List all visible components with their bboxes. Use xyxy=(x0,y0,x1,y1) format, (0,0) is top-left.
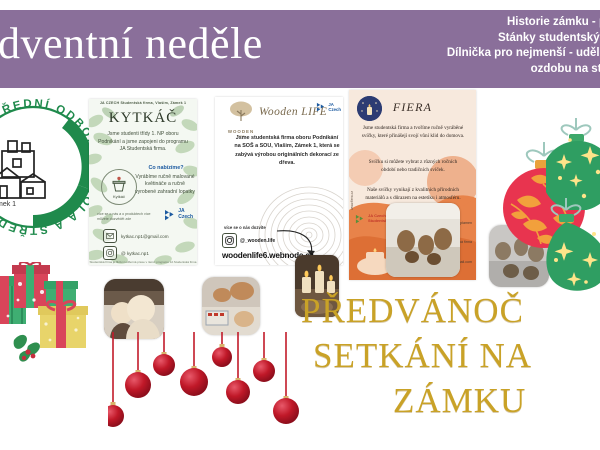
kytkac-badge-label: Kytkáč xyxy=(113,194,125,199)
card-kytkac-body: Jsme studenti třídy 1. NP oboru Podnikán… xyxy=(97,131,189,154)
fiera-side-text: www.fiera.cz xyxy=(350,191,354,210)
card-kytkac-header: JA CZECH Studentská firma, Vlašim, Zámek… xyxy=(89,101,197,105)
program-line-4: ozdobu na str xyxy=(276,62,600,78)
green-ornament-1-graphic xyxy=(546,118,600,210)
tree-icon xyxy=(224,101,258,123)
fiera-paragraph-3: Naše svíčky vynikají z kvalitních přírod… xyxy=(361,186,465,202)
kytkac-more-text: více se o nás a o produktech více můžete… xyxy=(97,212,159,223)
wooden-instagram: @_wooden.life xyxy=(240,238,275,244)
kytkac-email-row[interactable]: kytkac.np1@gmail.com xyxy=(103,229,169,243)
headline-line-3: ZÁMKU xyxy=(295,378,600,423)
wooden-more-text: více se o nás dozvíte xyxy=(224,225,266,230)
headline-line-2: SETKÁNÍ NA xyxy=(295,333,600,378)
email-icon xyxy=(103,229,117,243)
card-wooden-body: Jsme studentská firma oboru Podnikání na… xyxy=(233,134,341,168)
ja-czech-icon xyxy=(164,209,177,221)
photo-wood-decorations xyxy=(386,203,460,277)
gift-boxes-graphic xyxy=(0,262,114,382)
fiera-paragraph-2: Svíčku si můžete vybrat z různých ročníc… xyxy=(361,158,465,174)
ja-czech-icon xyxy=(355,214,366,224)
wooden-instagram-row[interactable]: @_wooden.life xyxy=(222,233,275,248)
ja-czech-icon xyxy=(316,102,327,112)
wooden-ja-line2: Czech xyxy=(328,107,341,112)
wooden-life-logo: WOODEN LIFE xyxy=(224,101,258,135)
card-wooden-life[interactable]: WOODEN LIFE Wooden LIFE JA Czech Jsme st… xyxy=(215,97,343,265)
page-title: adventní neděle xyxy=(0,18,263,69)
instagram-icon xyxy=(103,246,117,260)
kytkac-offer-body: Vyrábíme ručně malované květináče a ručn… xyxy=(135,174,195,196)
hanging-red-baubles-graphic xyxy=(108,332,308,450)
hanging-red-baubles xyxy=(108,332,308,450)
kytkac-logo-badge: Kytkáč xyxy=(101,169,137,205)
photo-craft-table xyxy=(202,277,260,335)
kytkac-ja-line2: Czech xyxy=(178,215,193,221)
kytkac-instagram: @ kytkac.np1 xyxy=(121,251,149,256)
fiera-paragraph-1: Jsme studentská firma a tvoříme ručně vy… xyxy=(361,124,465,140)
program-line-3: Dílnička pro nejmenší - uděle xyxy=(276,46,600,62)
green-christmas-ornament-2 xyxy=(540,198,600,294)
kytkac-ja-czech-logo: JA Czech xyxy=(164,209,193,221)
event-program-list: Historie zámku - p Stánky studentskýc Dí… xyxy=(276,15,600,77)
program-line-2: Stánky studentskýc xyxy=(276,31,600,47)
header-banner: adventní neděle Historie zámku - p Stánk… xyxy=(0,10,600,88)
card-kytkac[interactable]: JA CZECH Studentská firma, Vlašim, Zámek… xyxy=(89,99,197,265)
kytkac-email: kytkac.np1@gmail.com xyxy=(121,234,169,239)
instagram-icon xyxy=(222,233,237,248)
poster-canvas: adventní neděle Historie zámku - p Stánk… xyxy=(0,0,600,450)
green-ornament-2-graphic xyxy=(540,198,600,294)
card-kytkac-title: KYTKÁČ xyxy=(89,110,197,127)
card-fiera-title: FIERA xyxy=(349,100,476,115)
photo-wood-decorations-image xyxy=(386,203,460,277)
kytkac-instagram-row[interactable]: @ kytkac.np1 xyxy=(103,246,149,260)
wooden-ja-czech-logo: JA Czech xyxy=(316,102,341,112)
school-logo-subtext: lim, Zámek 1 xyxy=(0,201,16,208)
green-christmas-ornament-1 xyxy=(546,118,600,210)
kytkac-offer-title: Co nabízíme? xyxy=(137,165,195,171)
headline-line-1: PŘEDVÁNOČ xyxy=(295,288,600,333)
gift-boxes-illustration xyxy=(0,262,114,382)
photo-craft-table-image xyxy=(202,277,260,335)
program-line-1: Historie zámku - p xyxy=(276,15,600,31)
event-headline: PŘEDVÁNOČ SETKÁNÍ NA ZÁMKU xyxy=(295,288,600,423)
flowerpot-icon xyxy=(109,176,129,193)
